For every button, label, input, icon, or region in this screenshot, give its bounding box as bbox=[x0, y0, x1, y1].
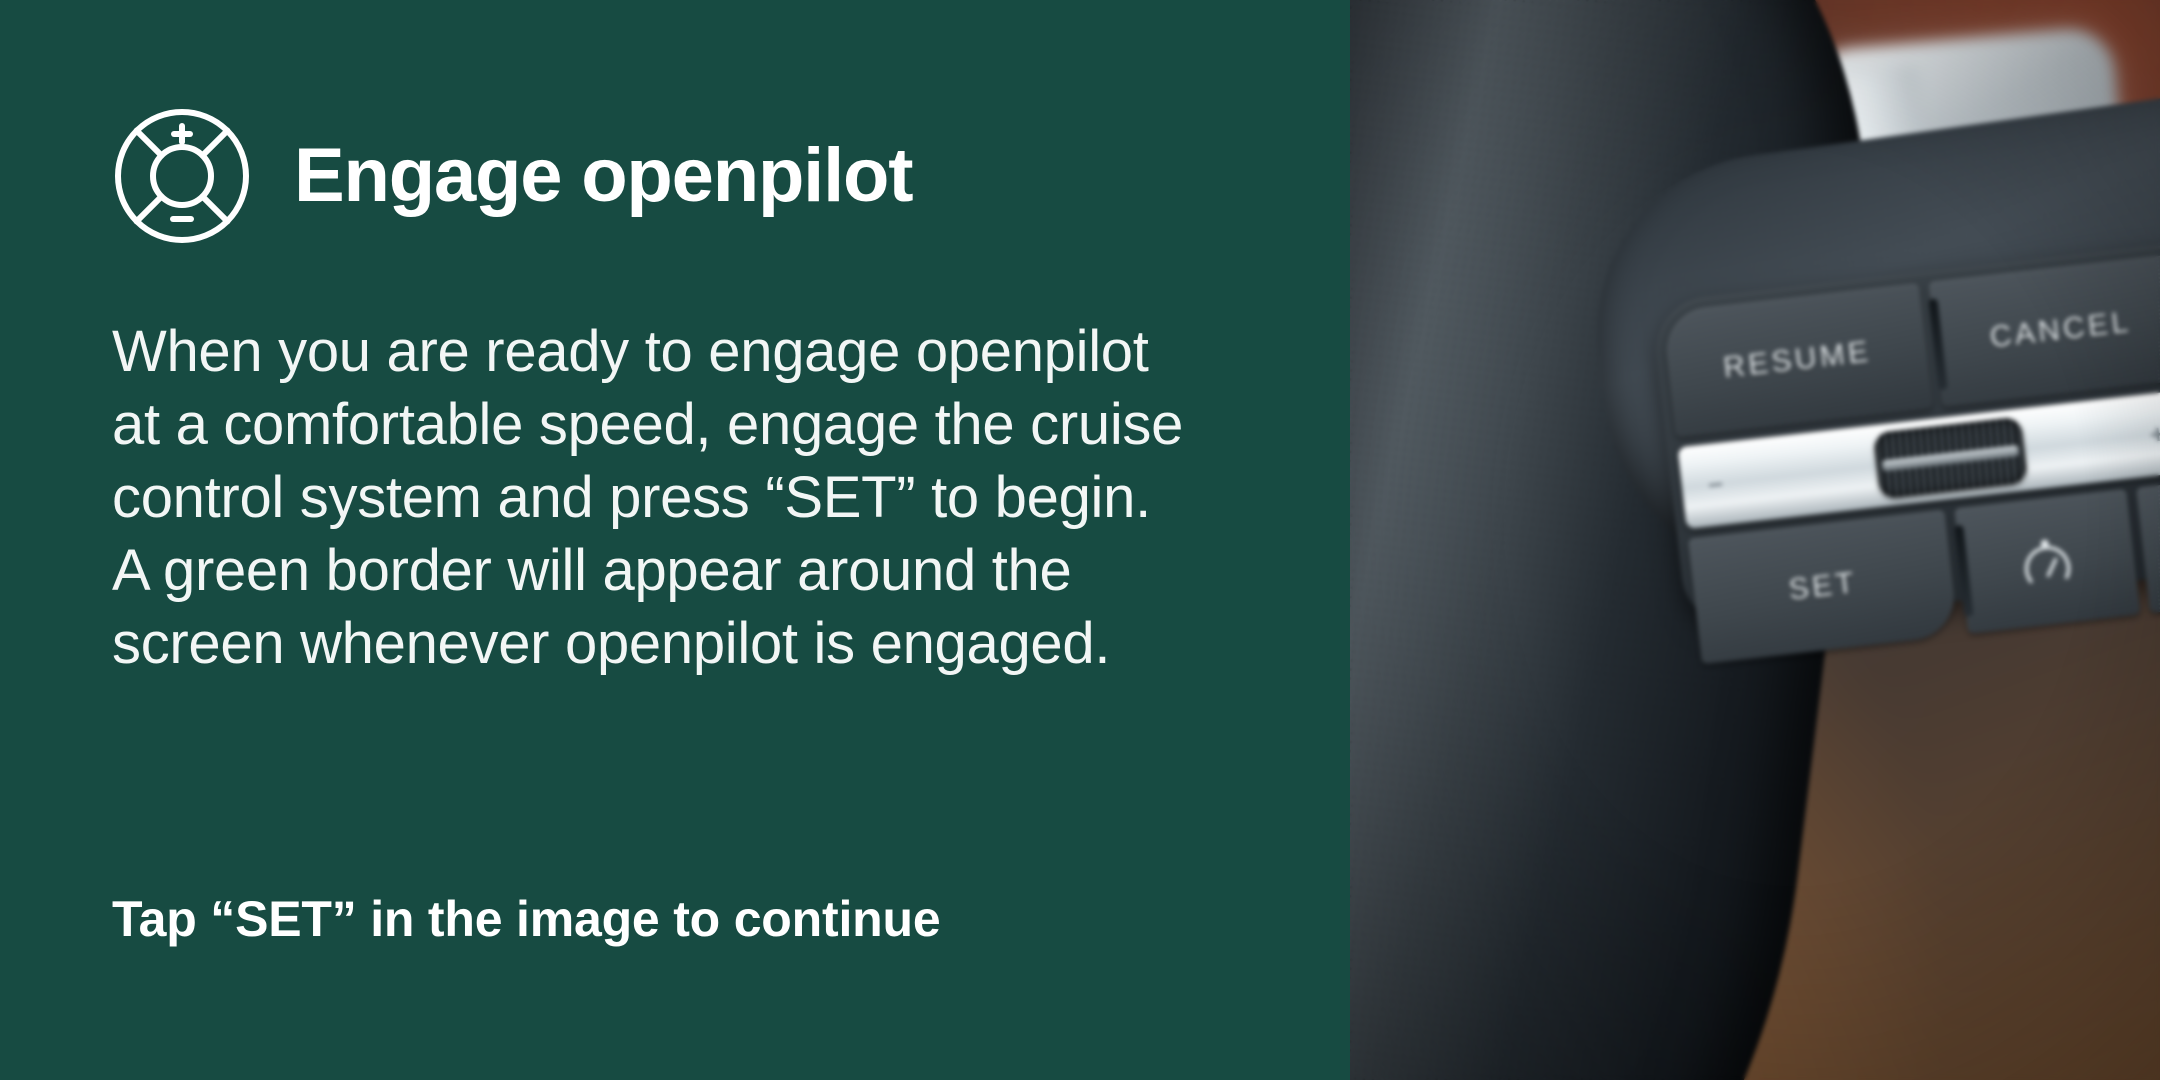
scroll-wheel[interactable] bbox=[1873, 417, 2028, 499]
resume-button[interactable]: RESUME bbox=[1662, 283, 1932, 437]
rocker-plus-label: + bbox=[2148, 418, 2160, 451]
cruise-control-button-pad: RESUME CANCEL − + SET bbox=[1651, 242, 2160, 631]
instruction-line: A green border will appear around the bbox=[112, 534, 1292, 607]
rocker-minus-label: − bbox=[1706, 468, 1725, 501]
instruction-line: screen whenever openpilot is engaged. bbox=[112, 607, 1292, 680]
instruction-body: When you are ready to engage openpilot a… bbox=[112, 315, 1292, 680]
cruise-control-icon bbox=[112, 106, 252, 246]
instruction-panel: Engage openpilot When you are ready to e… bbox=[0, 0, 1350, 1080]
resume-button-label: RESUME bbox=[1722, 335, 1874, 386]
panel-header: Engage openpilot bbox=[112, 105, 1350, 247]
extra-button[interactable] bbox=[2136, 480, 2160, 613]
instruction-line: control system and press “SET” to begin. bbox=[112, 461, 1292, 534]
following-distance-button[interactable] bbox=[1954, 489, 2140, 634]
continue-prompt: Tap “SET” in the image to continue bbox=[112, 890, 940, 948]
following-distance-icon bbox=[2013, 527, 2082, 596]
set-button-label: SET bbox=[1787, 566, 1859, 608]
cancel-button-label: CANCEL bbox=[1988, 305, 2133, 355]
instruction-line: When you are ready to engage openpilot bbox=[112, 315, 1292, 388]
cancel-button[interactable]: CANCEL bbox=[1928, 254, 2160, 408]
page-title: Engage openpilot bbox=[294, 138, 912, 214]
onboarding-screen: Engage openpilot When you are ready to e… bbox=[0, 0, 2160, 1080]
steering-wheel-image[interactable]: RESUME CANCEL − + SET bbox=[1350, 0, 2160, 1080]
instruction-line: at a comfortable speed, engage the cruis… bbox=[112, 388, 1292, 461]
